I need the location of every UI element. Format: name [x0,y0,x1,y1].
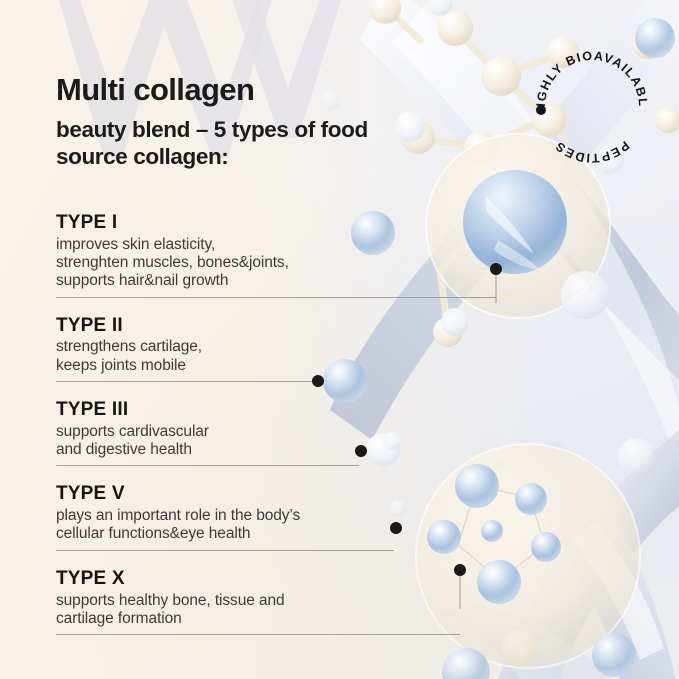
type-heading: TYPE X [56,568,476,591]
badge-bottom-text: PEPTIDES [552,138,632,165]
type-heading: TYPE III [56,399,476,422]
header-block: Multi collagen beauty blend – 5 types of… [56,74,486,170]
badge-bullet-dot [536,105,546,115]
type-divider-rule [56,381,314,382]
type-heading: TYPE II [56,315,476,338]
collagen-infographic: Multi collagen beauty blend – 5 types of… [0,0,679,679]
type-divider-rule [56,634,460,635]
type-divider-rule [56,465,359,466]
type-item-1: TYPE I improves skin elasticity, strengh… [56,212,476,298]
type-description: supports cardivascular and digestive hea… [56,423,476,460]
type-description: strengthens cartilage, keeps joints mobi… [56,338,476,375]
type-divider-rule [56,297,496,298]
page-subtitle: beauty blend – 5 types of food source co… [56,116,386,171]
highly-bioavailable-peptides-badge: HIGHLY BIOAVAILABLE PEPTIDES [533,48,651,166]
type-divider-rule [56,550,394,551]
type-heading: TYPE I [56,212,476,235]
collagen-type-list: TYPE I improves skin elasticity, strengh… [56,212,476,635]
type-description: improves skin elasticity, strenghten mus… [56,236,476,291]
type-heading: TYPE V [56,483,476,506]
badge-top-text: HIGHLY BIOAVAILABLE [533,48,650,108]
page-title: Multi collagen [56,74,486,107]
type-item-3: TYPE III supports cardivascular and dige… [56,399,476,466]
type-item-5: TYPE X supports healthy bone, tissue and… [56,568,476,635]
type-item-4: TYPE V plays an important role in the bo… [56,483,476,550]
type-description: plays an important role in the body’s ce… [56,507,476,544]
type-item-2: TYPE II strengthens cartilage, keeps joi… [56,315,476,382]
type-description: supports healthy bone, tissue and cartil… [56,592,476,629]
